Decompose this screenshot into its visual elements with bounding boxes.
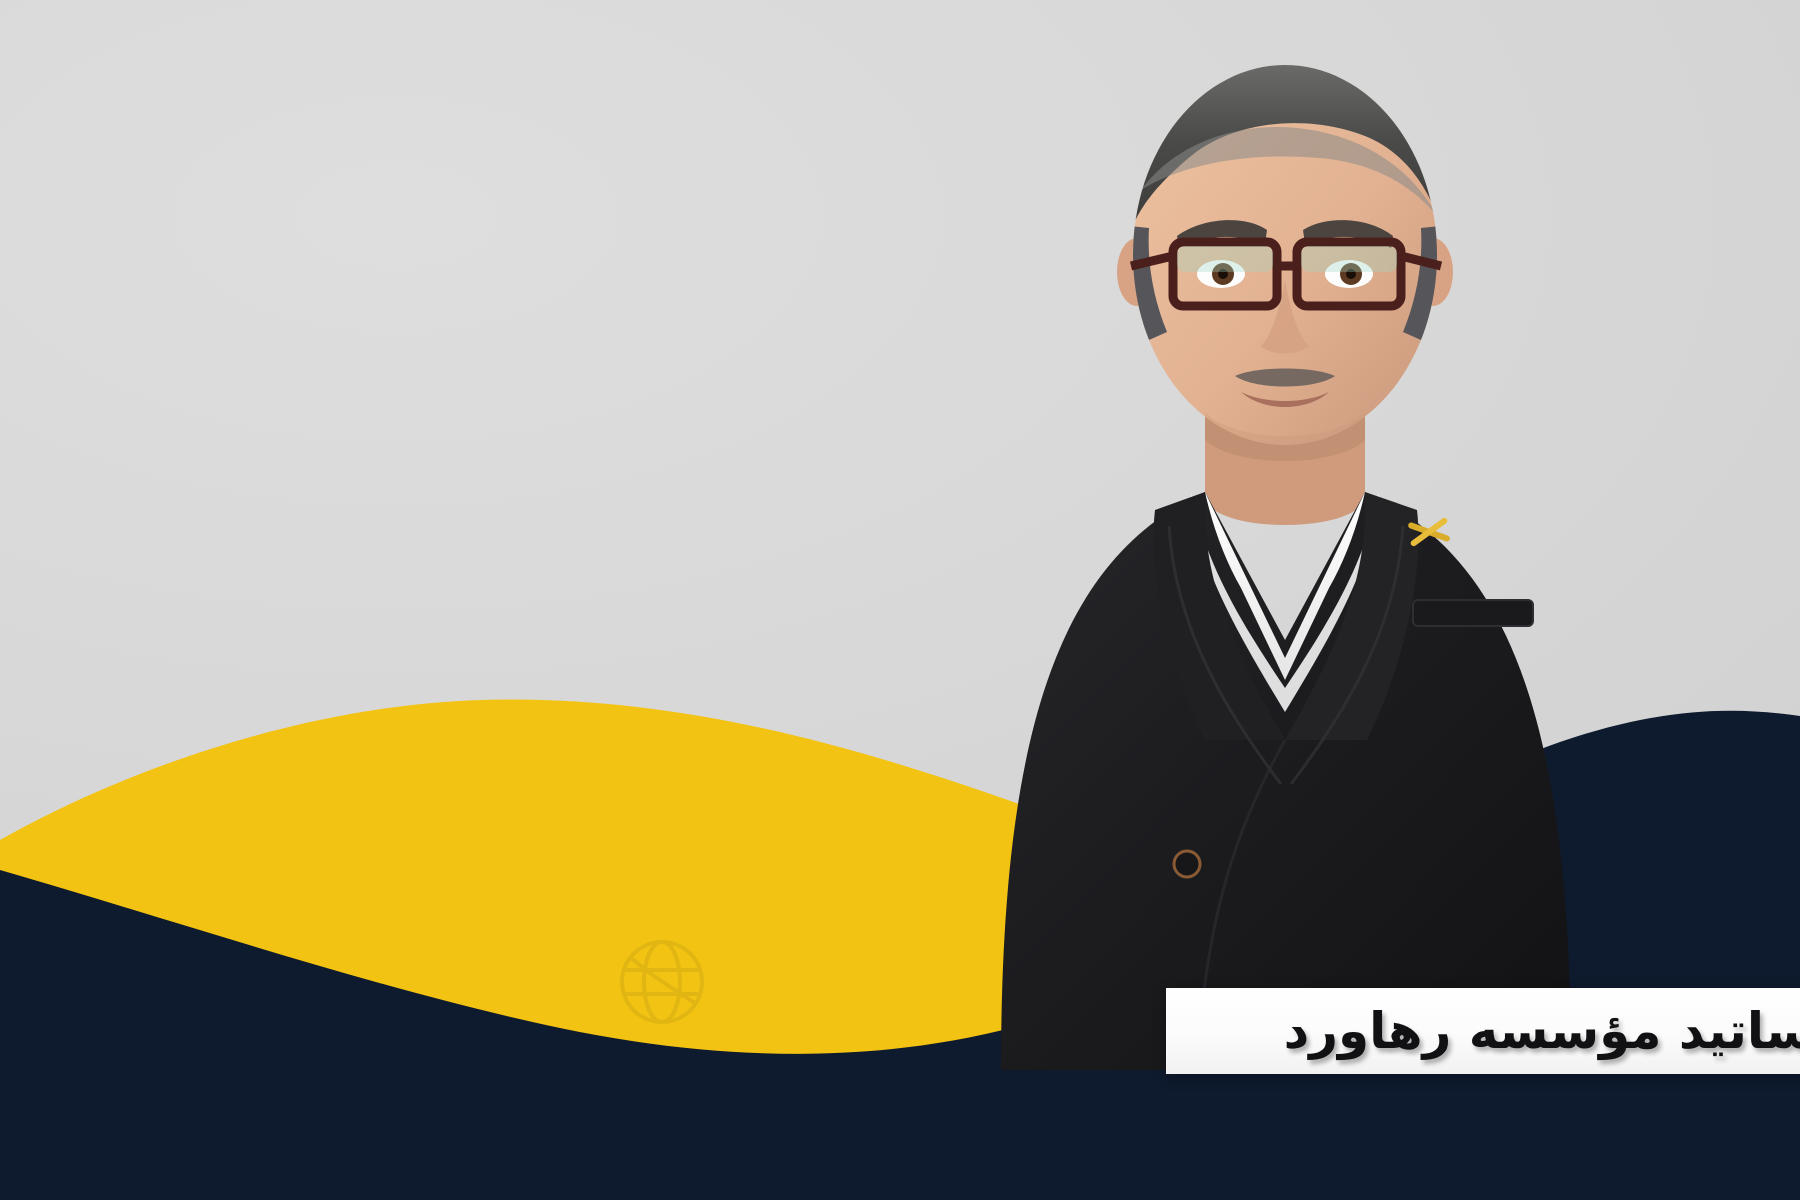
- globe-watermark-icon: [612, 932, 712, 1032]
- copy-block: دوره جامع ریاضی کنکور ۱۴۰۵ استاد اسحاق ر…: [0, 0, 840, 820]
- instructor-portrait: [905, 40, 1665, 1070]
- institute-banner: اساتید مؤسسه رهاورد: [1166, 988, 1800, 1074]
- institute-banner-text: اساتید مؤسسه رهاورد: [1284, 1002, 1800, 1060]
- poster-canvas: دوره جامع ریاضی کنکور ۱۴۰۵ استاد اسحاق ر…: [0, 0, 1800, 1200]
